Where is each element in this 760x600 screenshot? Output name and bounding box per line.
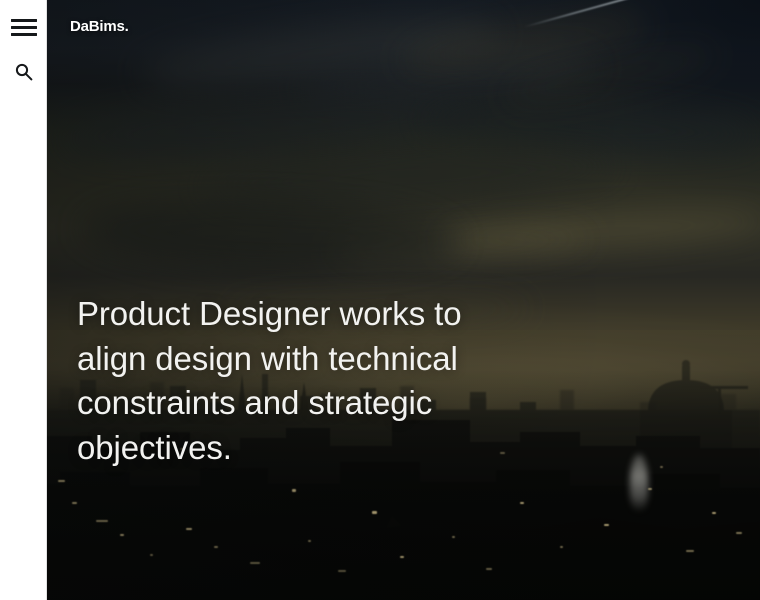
site-logo[interactable]: DaBims. <box>70 18 129 35</box>
hamburger-menu-icon <box>11 19 37 36</box>
page-root: Product Designer works to align design w… <box>0 0 760 600</box>
search-icon <box>14 62 34 82</box>
sidebar-item-menu[interactable] <box>0 10 47 44</box>
sidebar-item-search[interactable] <box>0 55 47 89</box>
hero-headline: Product Designer works to align design w… <box>77 292 677 470</box>
left-sidebar <box>0 0 47 600</box>
